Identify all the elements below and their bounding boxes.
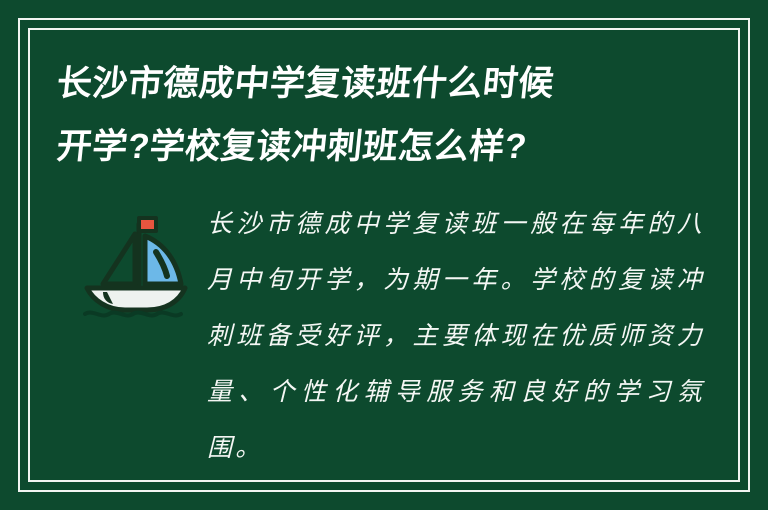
body-paragraph: 长沙市德成中学复读班一般在每年的八月中旬开学，为期一年。学校的复读冲刺班备受好评…: [207, 196, 711, 476]
sailboat-illustration: [57, 196, 207, 322]
sailboat-icon: [73, 210, 191, 322]
poster-canvas: 长沙市德成中学复读班什么时候 开学?学校复读冲刺班怎么样? 长沙市: [0, 0, 768, 510]
headline-line-2: 开学?学校复读冲刺班怎么样?: [54, 115, 701, 178]
content-row: 长沙市德成中学复读班一般在每年的八月中旬开学，为期一年。学校的复读冲刺班备受好评…: [57, 196, 711, 462]
headline-block: 长沙市德成中学复读班什么时候 开学?学校复读冲刺班怎么样?: [57, 52, 697, 178]
headline-line-1: 长沙市德成中学复读班什么时候: [54, 52, 701, 115]
